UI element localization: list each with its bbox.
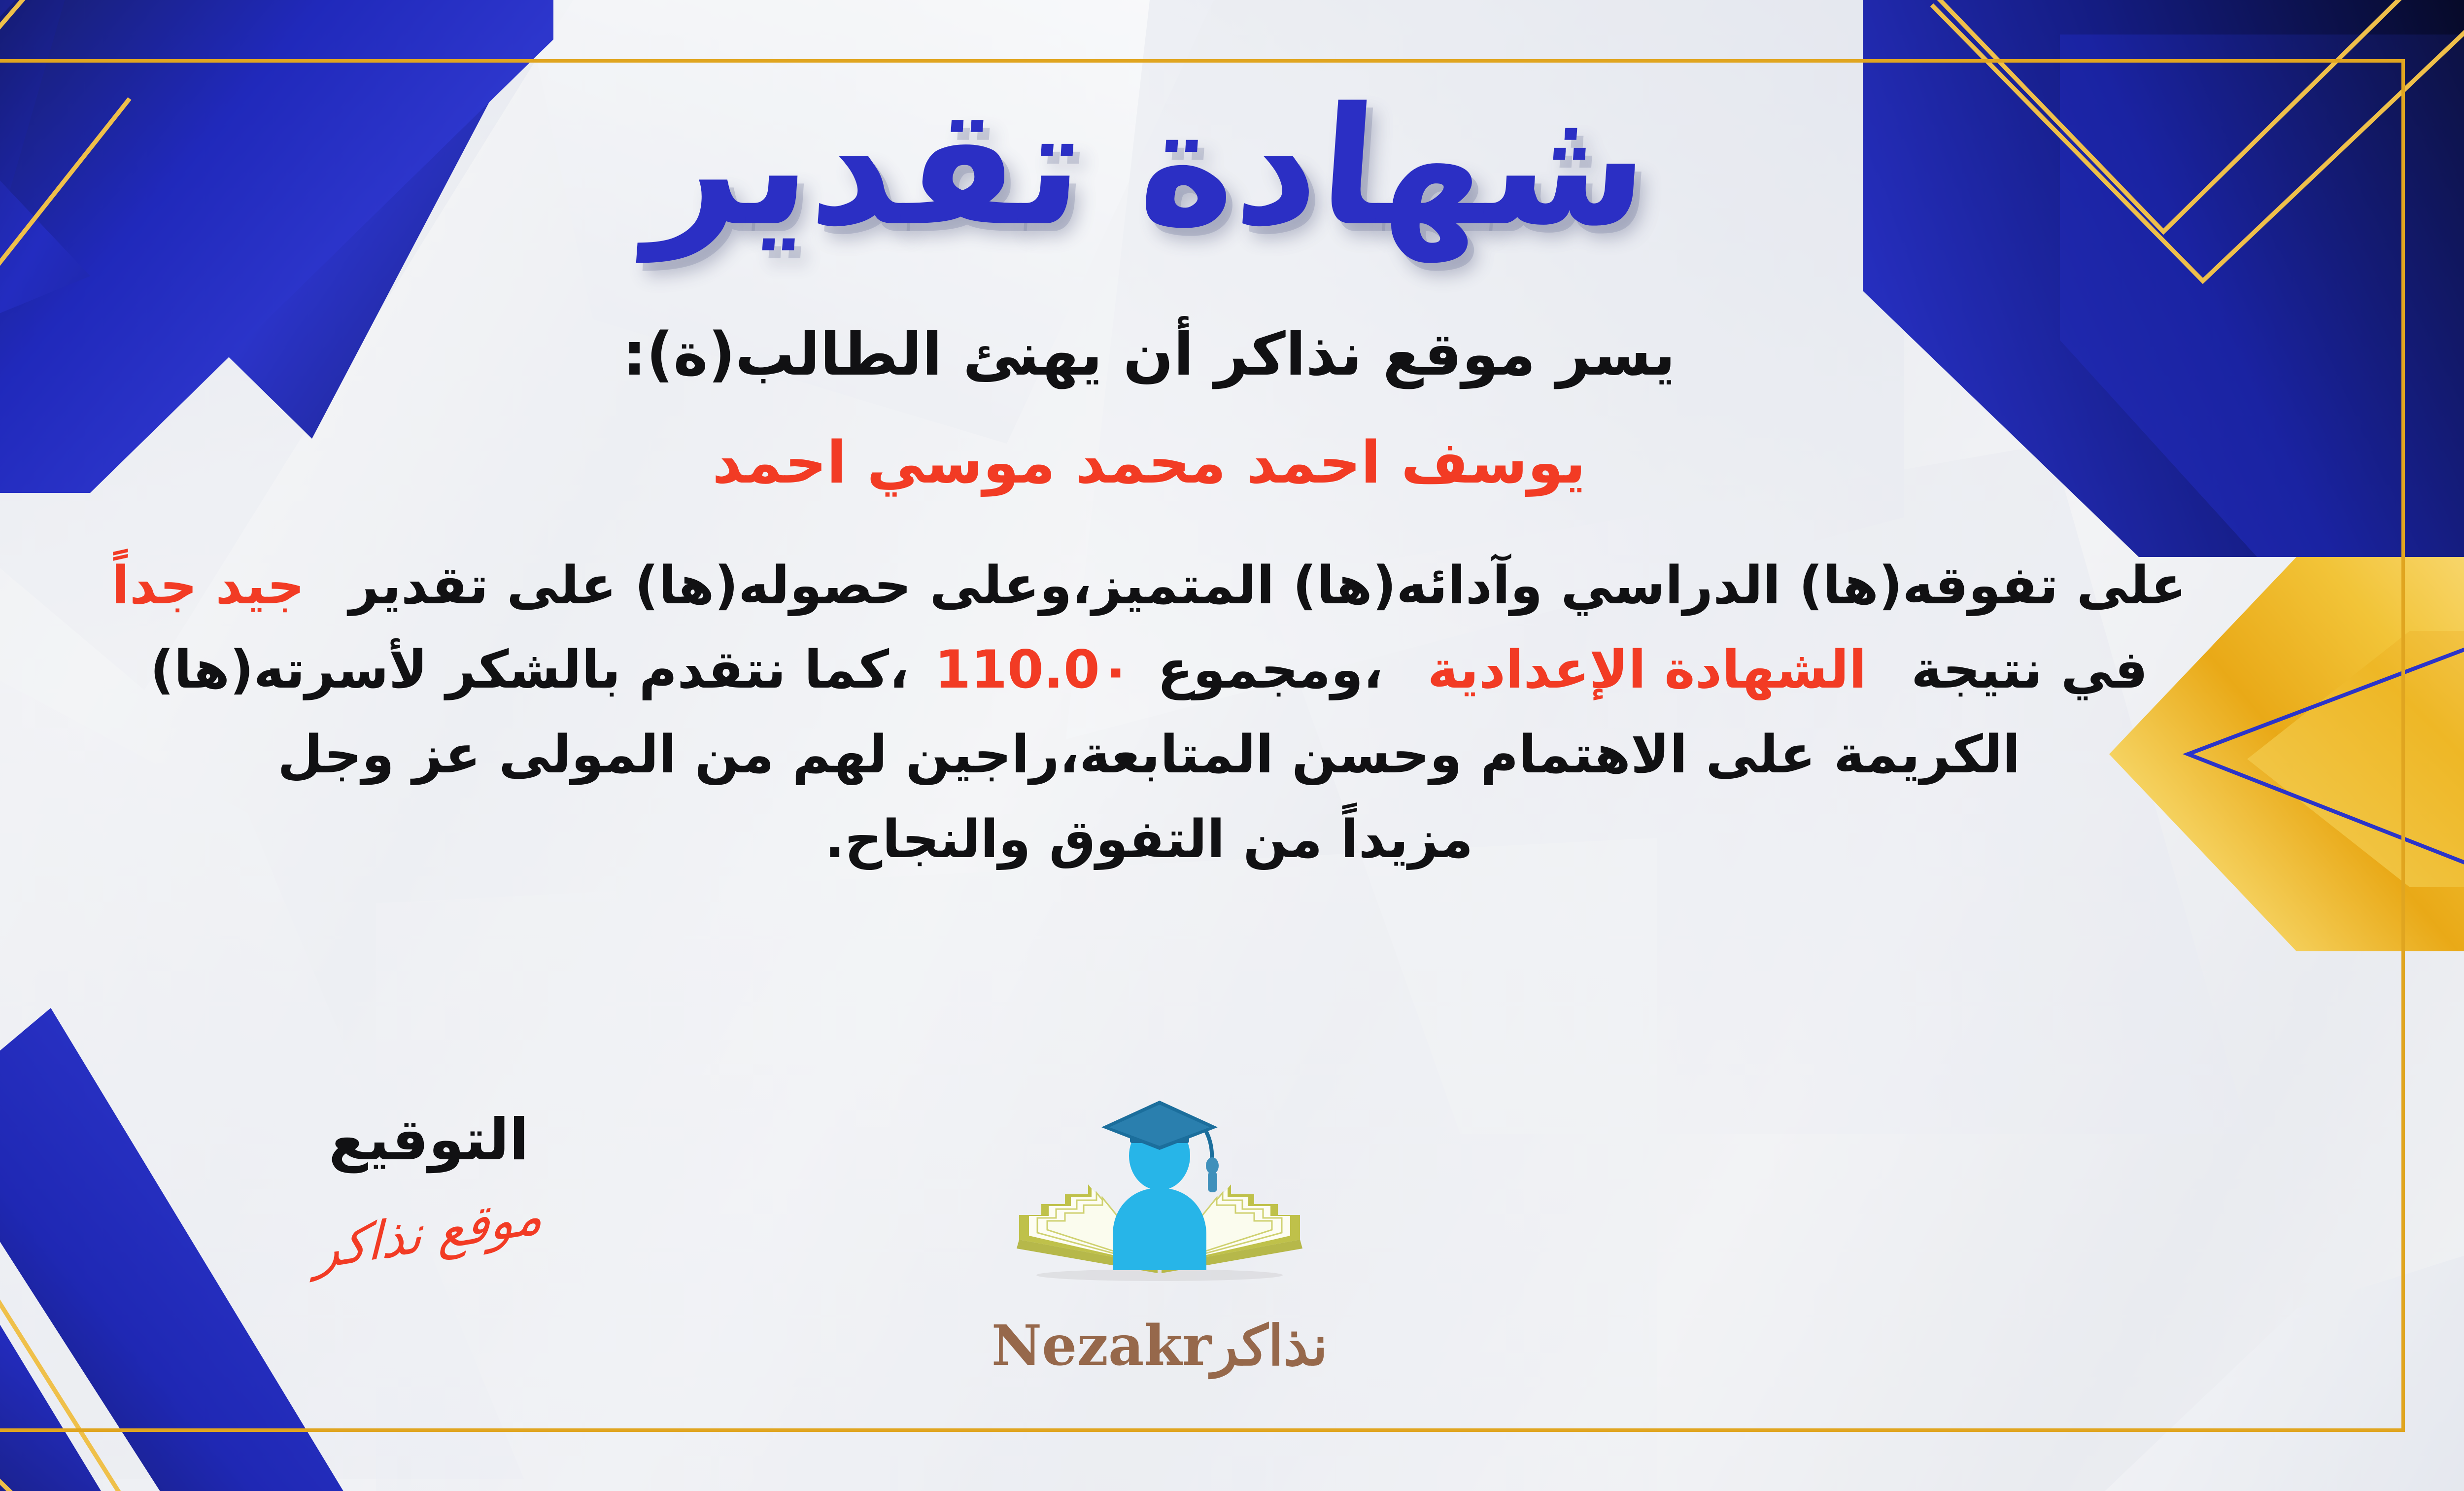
logo-wordmark: نذاكرNezakr [982, 1314, 1337, 1378]
certificate-canvas: شهادة تقدير يسر موقع نذاكر أن يهنئ الطال… [0, 0, 2464, 1491]
signature-area: التوقيع موقع نذاكر [207, 1107, 650, 1263]
exam-name: الشهادة الإعدادية [1428, 639, 1867, 700]
logo-arabic-text: نذاكر [1211, 1314, 1328, 1378]
signature-mark: موقع نذاكر [314, 1184, 543, 1282]
citation-line-3: الكريمة على الاهتمام وحسن المتابعة،راجين… [0, 712, 2307, 797]
citation-text-thanks: ،كما نتقدم بالشكر لأسرته(ها) [150, 639, 909, 700]
citation-body: على تفوقه(ها) الدراسي وآدائه(ها) المتميز… [0, 543, 2307, 882]
graduate-open-book-icon [982, 1092, 1337, 1309]
citation-line-1: على تفوقه(ها) الدراسي وآدائه(ها) المتميز… [0, 543, 2307, 628]
certificate-title: شهادة تقدير [643, 74, 1655, 261]
student-name: يوسف احمد محمد موسي احمد [712, 428, 1586, 496]
greeting-line: يسر موقع نذاكر أن يهنئ الطالب(ة): [622, 320, 1675, 389]
citation-line-4: مزيداً من التفوق والنجاح. [0, 797, 2307, 882]
citation-text-total-label: ،ومجموع [1157, 639, 1383, 700]
signature-label: التوقيع [207, 1107, 650, 1173]
citation-line-2: في نتيجةالشهادة الإعدادية،ومجموع110.0٠،ك… [0, 627, 2307, 712]
citation-text-achievement: على تفوقه(ها) الدراسي وآدائه(ها) المتميز… [349, 555, 2186, 616]
citation-text-result: في نتيجة [1911, 639, 2148, 700]
nezakr-logo: نذاكرNezakr [982, 1092, 1337, 1378]
certificate-footer: التوقيع موقع نذاكر [0, 1107, 2464, 1422]
grade-value: جيد جداً [111, 555, 305, 616]
logo-latin-text: Nezakr [992, 1314, 1211, 1378]
total-score-value: 110.0٠ [934, 639, 1131, 700]
